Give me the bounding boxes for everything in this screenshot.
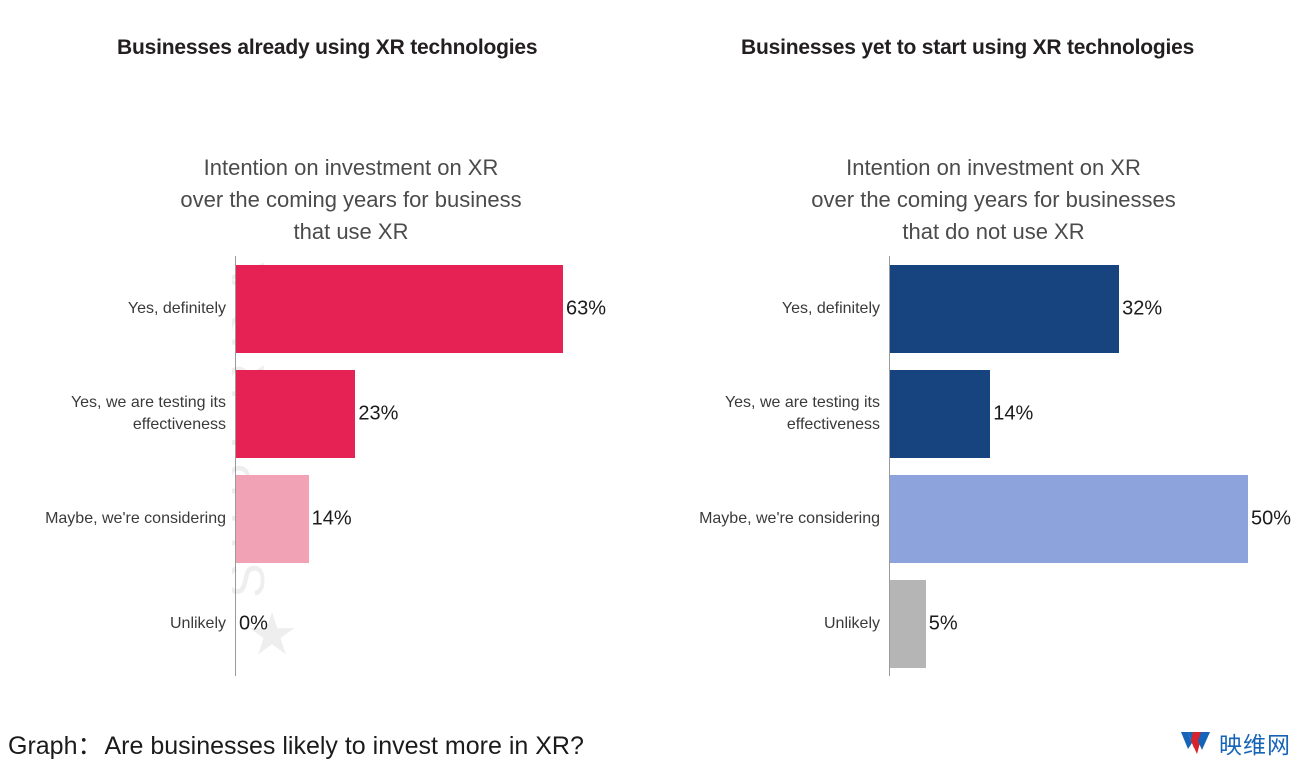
- plot-area-left: SUPERDATA ★ Yes, definitely 63% Yes, we …: [0, 256, 652, 676]
- bar-row: Yes, we are testing its effectiveness 23…: [0, 361, 652, 466]
- bar-yes-definitely: [890, 265, 1119, 353]
- bar-value-label: 23%: [358, 402, 398, 425]
- category-label: Yes, definitely: [652, 298, 880, 320]
- category-label: Yes, we are testing its effectiveness: [0, 392, 226, 436]
- panel-header-left: Businesses already using XR technologies: [117, 36, 537, 60]
- bar-value-label: 14%: [312, 507, 352, 530]
- caption-prefix: Graph：: [8, 732, 102, 760]
- panel-header-right: Businesses yet to start using XR technol…: [741, 36, 1194, 60]
- category-label: Yes, we are testing its effectiveness: [652, 392, 880, 436]
- category-label: Yes, definitely: [0, 298, 226, 320]
- bar-value-label: 50%: [1251, 507, 1291, 530]
- chart-title-left: Intention on investment on XR over the c…: [0, 152, 652, 248]
- bar-row: Yes, definitely 63%: [0, 256, 652, 361]
- yv-logo-icon: [1181, 730, 1211, 756]
- footer-caption: Graph：Are businesses likely to invest mo…: [8, 726, 584, 762]
- bar-value-label: 32%: [1122, 297, 1162, 320]
- bar-value-label: 14%: [993, 402, 1033, 425]
- bar-row: Maybe, we're considering 14%: [0, 466, 652, 571]
- bar-value-label: 0%: [239, 612, 268, 635]
- bar-row: Yes, definitely 32%: [652, 256, 1305, 361]
- bar-unlikely: [890, 580, 926, 668]
- bar-maybe-considering: [236, 475, 309, 563]
- chart-title-right: Intention on investment on XR over the c…: [652, 152, 1305, 248]
- category-label: Unlikely: [0, 613, 226, 635]
- category-label: Maybe, we're considering: [652, 508, 880, 530]
- bar-value-label: 63%: [566, 297, 606, 320]
- chart-panel-right: Intention on investment on XR over the c…: [652, 140, 1305, 700]
- bar-row: Yes, we are testing its effectiveness 14…: [652, 361, 1305, 466]
- brand-name: 映维网: [1219, 726, 1291, 760]
- bar-testing-effectiveness: [236, 370, 355, 458]
- bar-row: Unlikely 0%: [0, 571, 652, 676]
- caption-text: Are businesses likely to invest more in …: [104, 732, 583, 760]
- plot-area-right: Yes, definitely 32% Yes, we are testing …: [652, 256, 1305, 676]
- category-label: Maybe, we're considering: [0, 508, 226, 530]
- bar-row: Maybe, we're considering 50%: [652, 466, 1305, 571]
- chart-panel-left: Intention on investment on XR over the c…: [0, 140, 652, 700]
- category-label: Unlikely: [652, 613, 880, 635]
- bar-value-label: 5%: [929, 612, 958, 635]
- bar-testing-effectiveness: [890, 370, 990, 458]
- bar-row: Unlikely 5%: [652, 571, 1305, 676]
- brand-logo: 映维网: [1181, 726, 1291, 760]
- bar-maybe-considering: [890, 475, 1248, 563]
- bar-yes-definitely: [236, 265, 563, 353]
